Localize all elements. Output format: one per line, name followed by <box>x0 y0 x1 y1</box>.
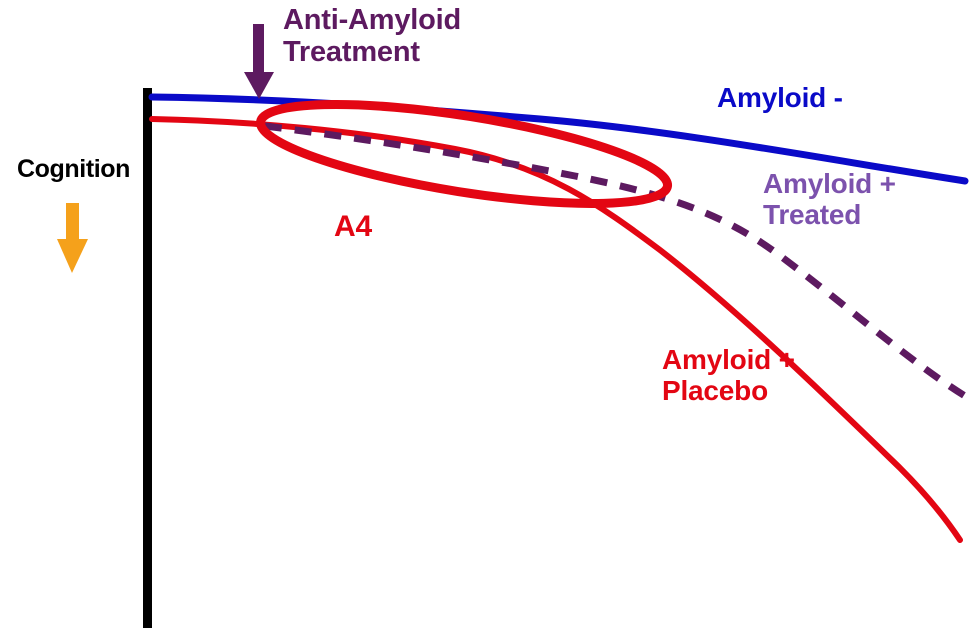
series-label-amyloid-placebo: Amyloid + Placebo <box>662 344 795 407</box>
annotation-a4-label: A4 <box>334 210 372 244</box>
cognition-arrow-icon <box>57 203 88 273</box>
annotation-anti-amyloid-treatment: Anti-Amyloid Treatment <box>283 4 461 69</box>
axis-label-cognition: Cognition <box>17 155 130 183</box>
treatment-arrow-icon <box>244 24 274 99</box>
vertical-axis-line <box>143 88 152 628</box>
series-label-amyloid-treated: Amyloid + Treated <box>763 168 896 231</box>
a4-highlight-ellipse <box>255 84 674 224</box>
figure-canvas: Anti-Amyloid Treatment Amyloid - Amyloid… <box>0 0 975 633</box>
series-label-amyloid-negative: Amyloid - <box>717 82 843 113</box>
